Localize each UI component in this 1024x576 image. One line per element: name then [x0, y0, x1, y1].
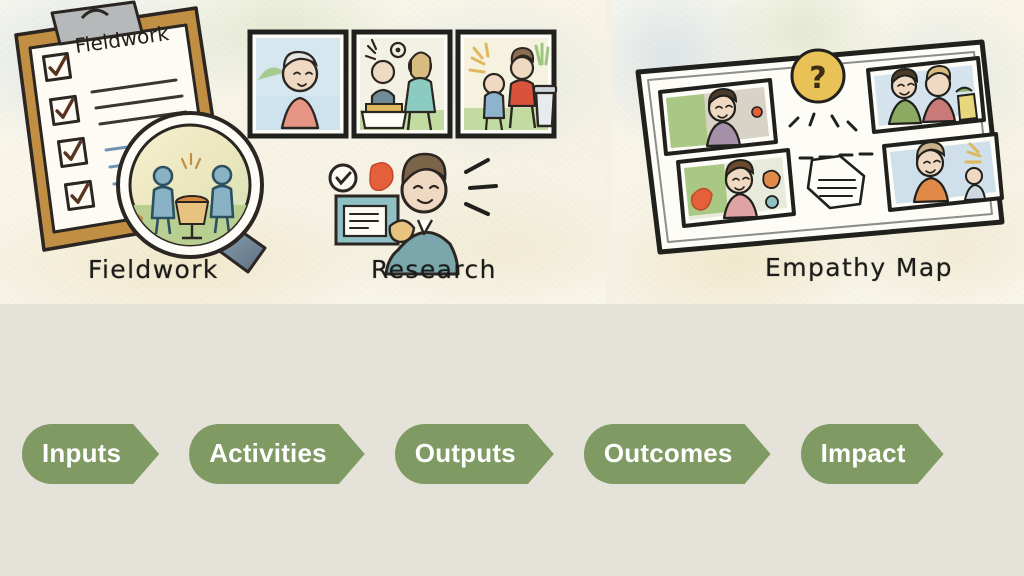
chevron-step-impact[interactable]: Impact [801, 424, 944, 484]
chevron-label: Outcomes [604, 440, 733, 466]
photo-card [678, 150, 794, 226]
chevron-label: Inputs [42, 440, 121, 466]
magnifying-glass-icon [118, 113, 265, 272]
page-root: Fieldwork [0, 0, 1024, 576]
chevron-label: Outputs [415, 440, 516, 466]
chevron-label: Impact [821, 440, 906, 466]
fieldwork-research-panel: Fieldwork [0, 0, 606, 304]
caption-empathy-map: Empathy Map [765, 253, 953, 282]
chevron-step-activities[interactable]: Activities [189, 424, 365, 484]
chevron-flow-row: Inputs Activities Outputs Outcomes Impac… [22, 424, 944, 484]
photo-strip-frames [250, 32, 556, 136]
chevron-label: Activities [209, 440, 327, 466]
photo-card [660, 80, 776, 154]
chevron-step-inputs[interactable]: Inputs [22, 424, 159, 484]
caption-research: Research [371, 255, 497, 284]
photo-card [868, 58, 984, 132]
empathy-map-panel: ? [612, 0, 1024, 304]
logic-model-flow-section: Inputs Activities Outputs Outcomes Impac… [0, 304, 1024, 576]
chevron-step-outputs[interactable]: Outputs [395, 424, 554, 484]
question-mark-badge: ? [792, 50, 844, 102]
caption-fieldwork: Fieldwork [88, 255, 219, 284]
svg-text:?: ? [809, 61, 826, 96]
photo-card [884, 134, 1002, 210]
illustration-band: Fieldwork [0, 0, 1024, 304]
chevron-step-outcomes[interactable]: Outcomes [584, 424, 771, 484]
